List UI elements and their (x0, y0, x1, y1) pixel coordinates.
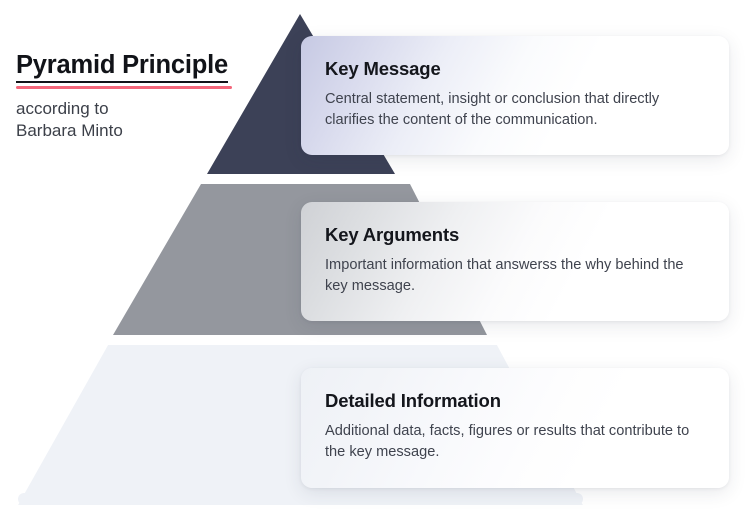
card-key-message[interactable]: Key Message Central statement, insight o… (301, 36, 729, 155)
card-key-message-title: Key Message (325, 58, 703, 80)
page-title: Pyramid Principle (16, 50, 228, 83)
card-detailed-information-body: Additional data, facts, figures or resul… (325, 421, 697, 463)
card-detailed-information[interactable]: Detailed Information Additional data, fa… (301, 368, 729, 488)
card-key-arguments-body: Important information that answerss the … (325, 255, 697, 297)
card-key-arguments-title: Key Arguments (325, 224, 703, 246)
card-key-arguments[interactable]: Key Arguments Important information that… (301, 202, 729, 321)
bottom-left-corner-round (18, 493, 30, 505)
card-detailed-information-title: Detailed Information (325, 390, 703, 412)
pyramid-principle-diagram: Pyramid Principle according toBarbara Mi… (0, 0, 753, 527)
card-key-message-body: Central statement, insight or conclusion… (325, 89, 697, 131)
subtitle-line-2: Barbara Minto (16, 121, 123, 140)
subtitle: according toBarbara Minto (16, 98, 286, 141)
subtitle-line-1: according to (16, 99, 109, 118)
title-block: Pyramid Principle according toBarbara Mi… (16, 50, 286, 141)
title-accent-underline (16, 86, 232, 89)
bottom-right-corner-round (571, 493, 583, 505)
